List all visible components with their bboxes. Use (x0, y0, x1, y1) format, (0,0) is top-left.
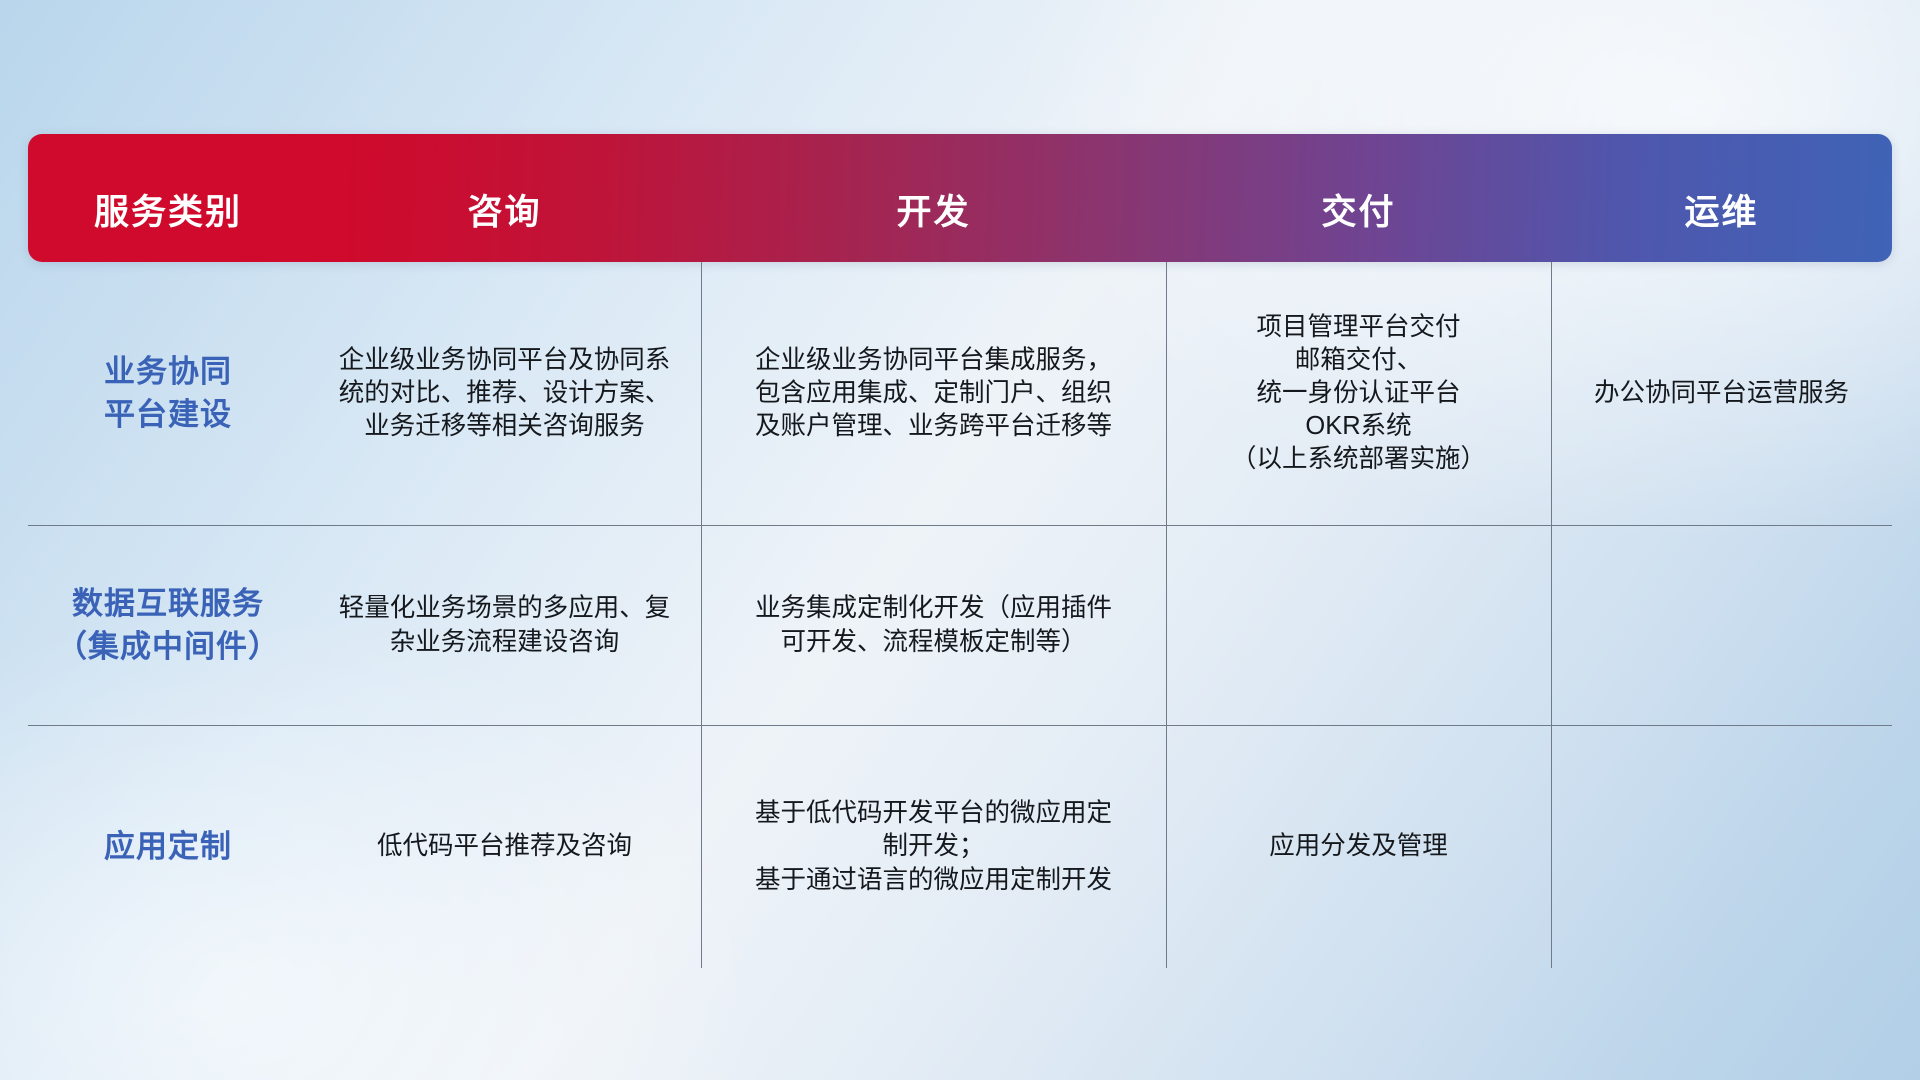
cell-row2-consulting: 轻量化业务场景的多应用、复杂业务流程建设咨询 (308, 526, 701, 725)
cell-row2-delivery (1166, 526, 1551, 725)
table-row: 业务协同平台建设 企业级业务协同平台及协同系统的对比、推荐、设计方案、业务迁移等… (28, 262, 1892, 526)
column-header-category: 服务类别 (28, 184, 308, 262)
cell-row3-development: 基于低代码开发平台的微应用定制开发；基于通过语言的微应用定制开发 (701, 726, 1166, 968)
row-label-application-customization: 应用定制 (28, 726, 308, 968)
cell-row1-operations: 办公协同平台运营服务 (1551, 262, 1892, 525)
row-label-business-collaboration: 业务协同平台建设 (28, 262, 308, 525)
service-category-table: 服务类别 咨询 开发 交付 运维 业务协同平台建设 企业级业务协同平台及协同系统… (28, 134, 1892, 968)
table-body: 业务协同平台建设 企业级业务协同平台及协同系统的对比、推荐、设计方案、业务迁移等… (28, 262, 1892, 968)
row-label-data-interconnection: 数据互联服务（集成中间件） (28, 526, 308, 725)
cell-row3-consulting: 低代码平台推荐及咨询 (308, 726, 701, 968)
table-header-row: 服务类别 咨询 开发 交付 运维 (28, 134, 1892, 262)
column-header-delivery: 交付 (1166, 184, 1551, 262)
cell-row1-development: 企业级业务协同平台集成服务，包含应用集成、定制门户、组织及账户管理、业务跨平台迁… (701, 262, 1166, 525)
table-row: 数据互联服务（集成中间件） 轻量化业务场景的多应用、复杂业务流程建设咨询 业务集… (28, 526, 1892, 726)
table-row: 应用定制 低代码平台推荐及咨询 基于低代码开发平台的微应用定制开发；基于通过语言… (28, 726, 1892, 968)
cell-row3-delivery: 应用分发及管理 (1166, 726, 1551, 968)
cell-row3-operations (1551, 726, 1892, 968)
cell-row1-delivery: 项目管理平台交付邮箱交付、统一身份认证平台OKR系统（以上系统部署实施） (1166, 262, 1551, 525)
cell-row1-consulting: 企业级业务协同平台及协同系统的对比、推荐、设计方案、业务迁移等相关咨询服务 (308, 262, 701, 525)
column-header-operations: 运维 (1551, 184, 1892, 262)
cell-row2-operations (1551, 526, 1892, 725)
column-header-consulting: 咨询 (308, 184, 701, 262)
page-root: 服务类别 咨询 开发 交付 运维 业务协同平台建设 企业级业务协同平台及协同系统… (0, 0, 1920, 1080)
cell-row2-development: 业务集成定制化开发（应用插件可开发、流程模板定制等） (701, 526, 1166, 725)
column-header-development: 开发 (701, 184, 1166, 262)
